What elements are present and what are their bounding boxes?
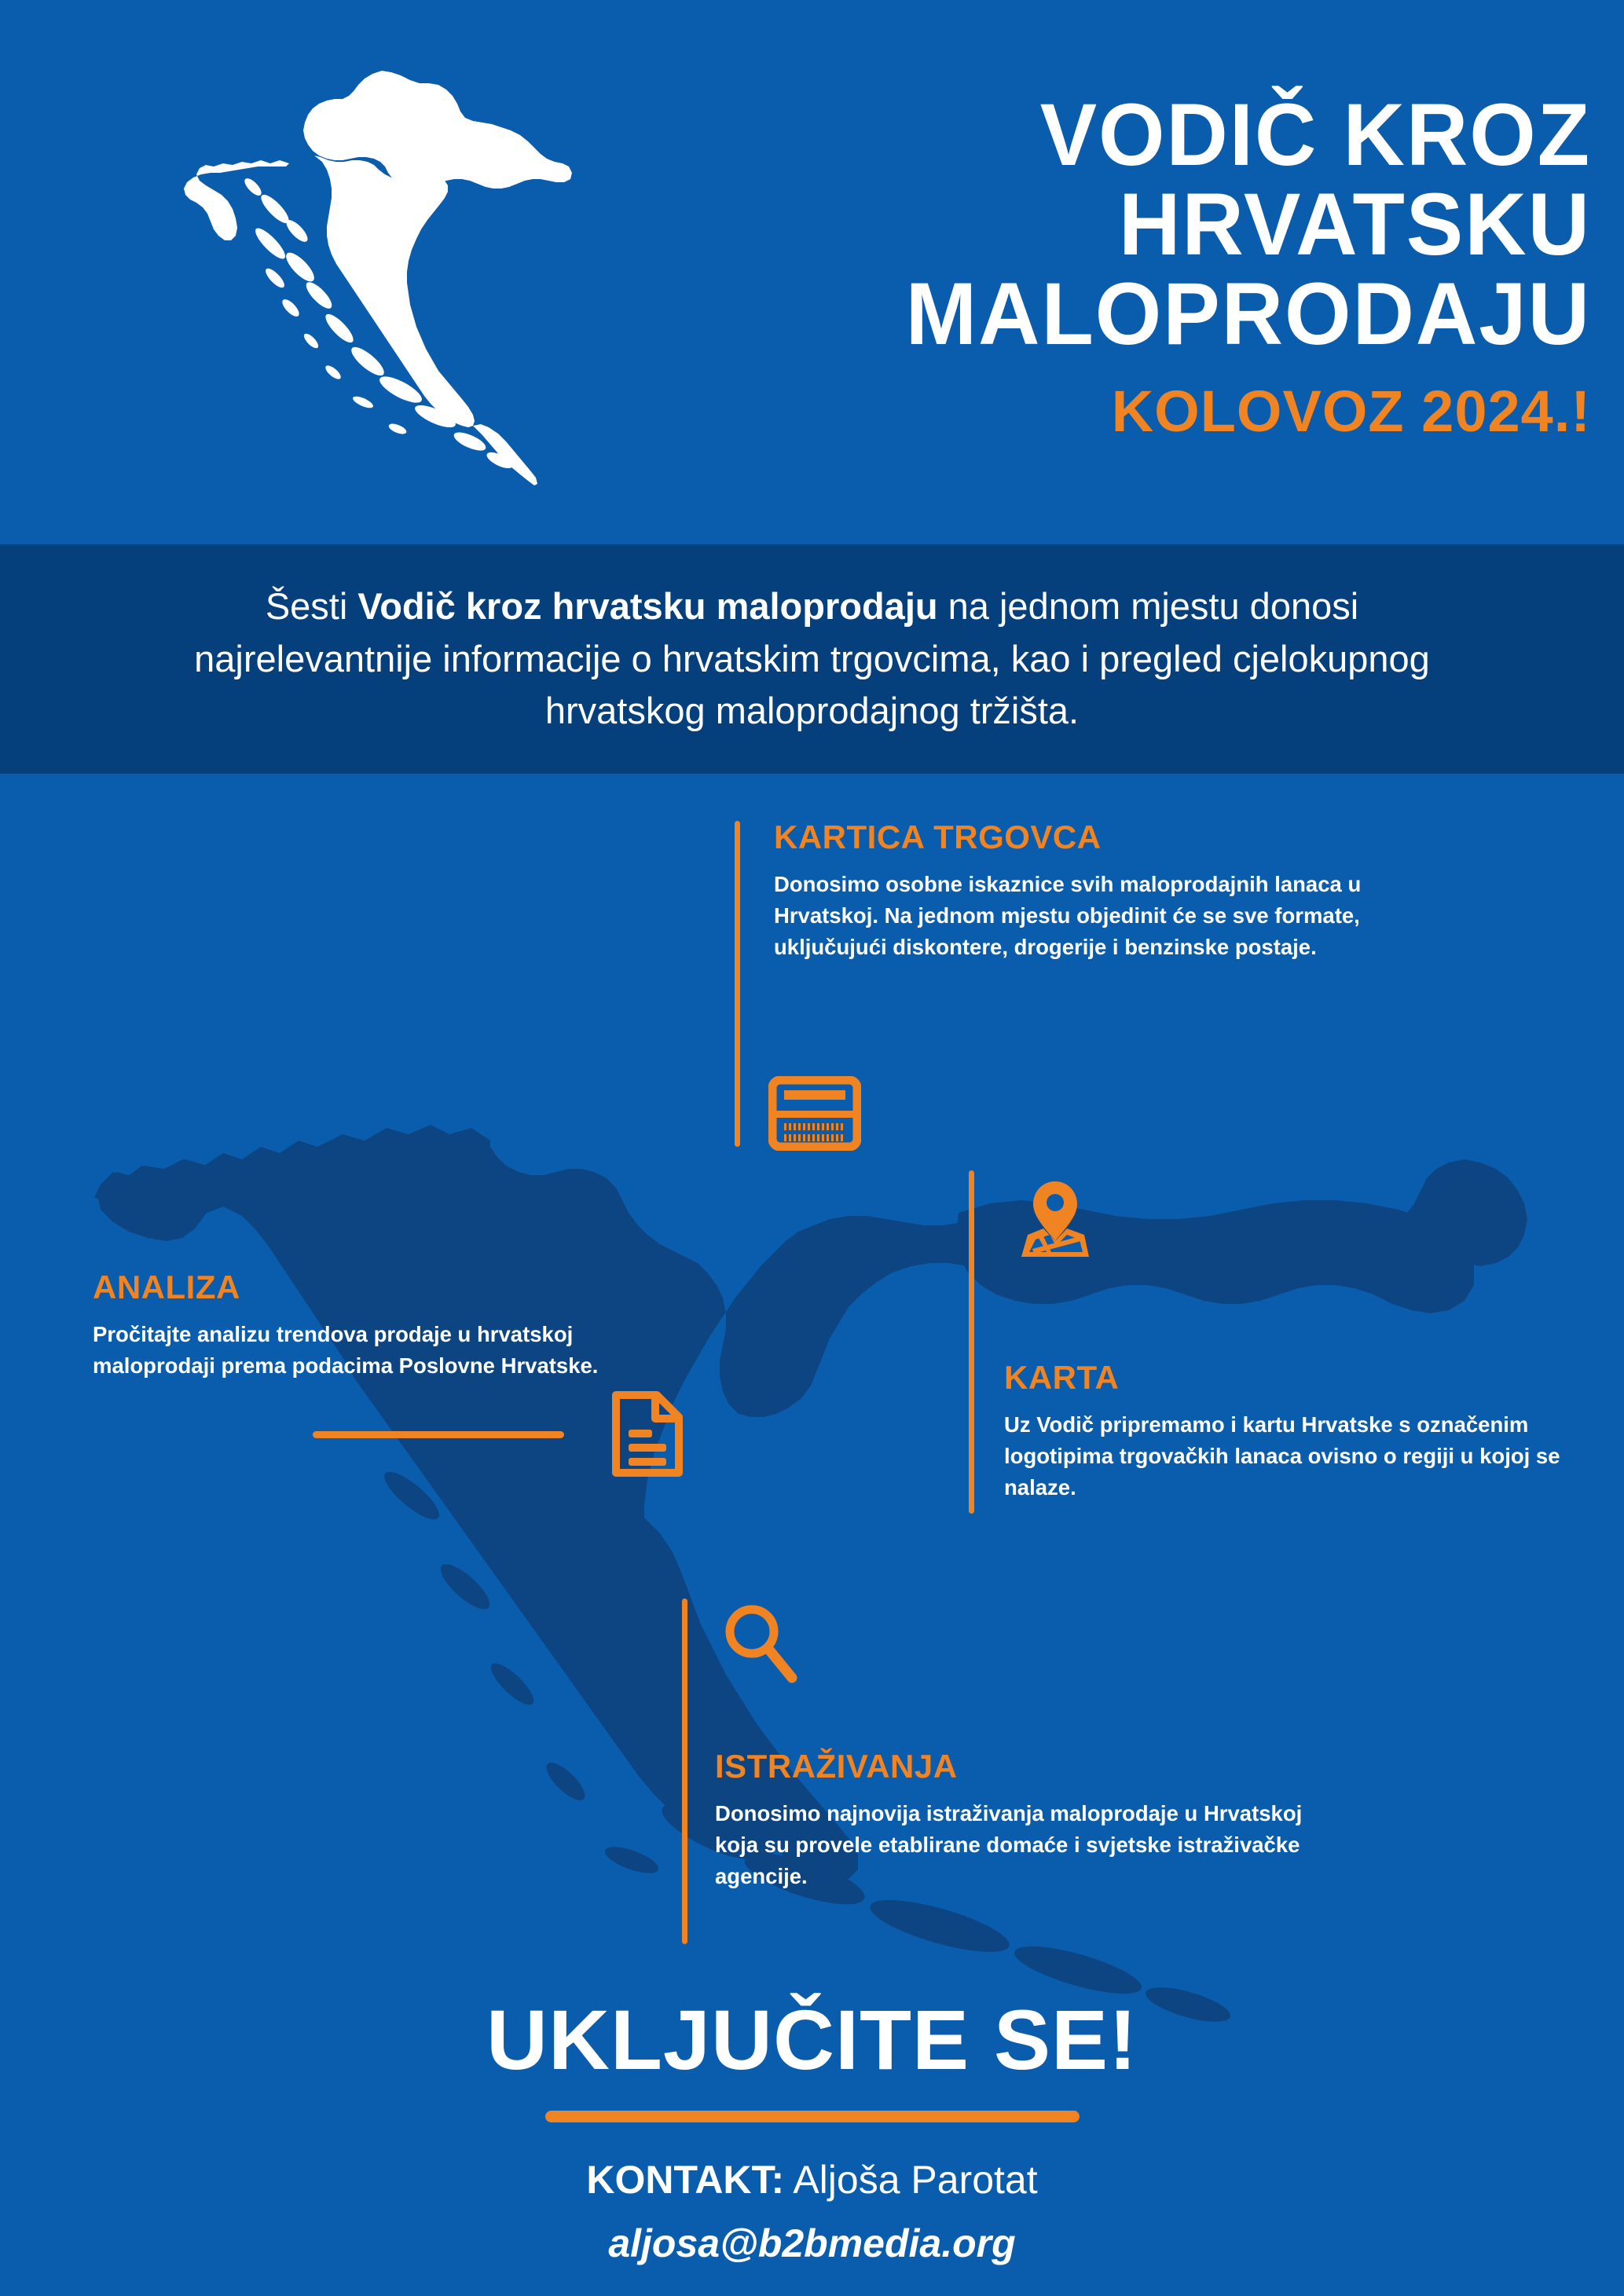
contact-email[interactable]: aljosa@b2bmedia.org [0, 2215, 1624, 2272]
title-line-2: HRVATSKU [608, 180, 1591, 269]
intro-paragraph: Šesti Vodič kroz hrvatsku maloprodaju na… [168, 580, 1457, 738]
analiza-rule [313, 1431, 564, 1438]
feature-istrazivanja: ISTRAŽIVANJA Donosimo najnovija istraživ… [715, 1748, 1344, 1892]
feature-body-analiza: Pročitajte analizu trendova prodaje u hr… [93, 1319, 611, 1382]
contact-label: KONTAKT: [586, 2158, 784, 2202]
cta-divider [545, 2111, 1080, 2122]
issue-date-label: KOLOVOZ 2024.! [577, 374, 1591, 449]
feature-title-karta: KARTA [1004, 1359, 1570, 1397]
title-line-3: MALOPRODAJU [608, 269, 1591, 359]
poster-title-block: VODIČ KROZ HRVATSKU MALOPRODAJU KOLOVOZ … [577, 90, 1591, 449]
credit-card-icon [768, 1076, 861, 1151]
contact-line: KONTAKT: Aljoša Parotat [0, 2154, 1624, 2207]
footer-cta: UKLJUČITE SE! KONTAKT: Aljoša Parotat al… [0, 1995, 1624, 2272]
contact-name: Aljoša Parotat [784, 2158, 1037, 2202]
karta-rule [969, 1170, 974, 1514]
feature-title-istrazivanja: ISTRAŽIVANJA [715, 1748, 1344, 1785]
cta-heading: UKLJUČITE SE! [0, 1995, 1624, 2084]
feature-kartica-trgovca: KARTICA TRGOVCA Donosimo osobne iskaznic… [774, 818, 1426, 963]
map-pin-icon [1012, 1178, 1098, 1265]
title-line-1: VODIČ KROZ [608, 90, 1591, 180]
feature-body-istrazivanja: Donosimo najnovija istraživanja maloprod… [715, 1798, 1344, 1892]
poster-header: VODIČ KROZ HRVATSKU MALOPRODAJU KOLOVOZ … [0, 0, 1624, 544]
kartica-trgovca-rule [735, 821, 740, 1147]
magnifier-icon [723, 1602, 801, 1687]
document-icon [611, 1389, 684, 1479]
intro-prefix: Šesti [266, 585, 358, 627]
intro-bold-title: Vodič kroz hrvatsku maloprodaju [357, 585, 937, 627]
feature-karta: KARTA Uz Vodič pripremamo i kartu Hrvats… [1004, 1359, 1570, 1503]
infographic-poster: VODIČ KROZ HRVATSKU MALOPRODAJU KOLOVOZ … [0, 0, 1624, 2296]
feature-analiza: ANALIZA Pročitajte analizu trendova prod… [93, 1269, 611, 1382]
feature-title-kartica-trgovca: KARTICA TRGOVCA [774, 818, 1426, 856]
feature-body-kartica-trgovca: Donosimo osobne iskaznice svih maloproda… [774, 869, 1426, 963]
feature-body-karta: Uz Vodič pripremamo i kartu Hrvatske s o… [1004, 1409, 1570, 1503]
intro-band: Šesti Vodič kroz hrvatsku maloprodaju na… [0, 544, 1624, 774]
istrazivanja-rule [682, 1598, 687, 1944]
feature-title-analiza: ANALIZA [93, 1269, 611, 1306]
croatia-map-icon [165, 49, 574, 489]
